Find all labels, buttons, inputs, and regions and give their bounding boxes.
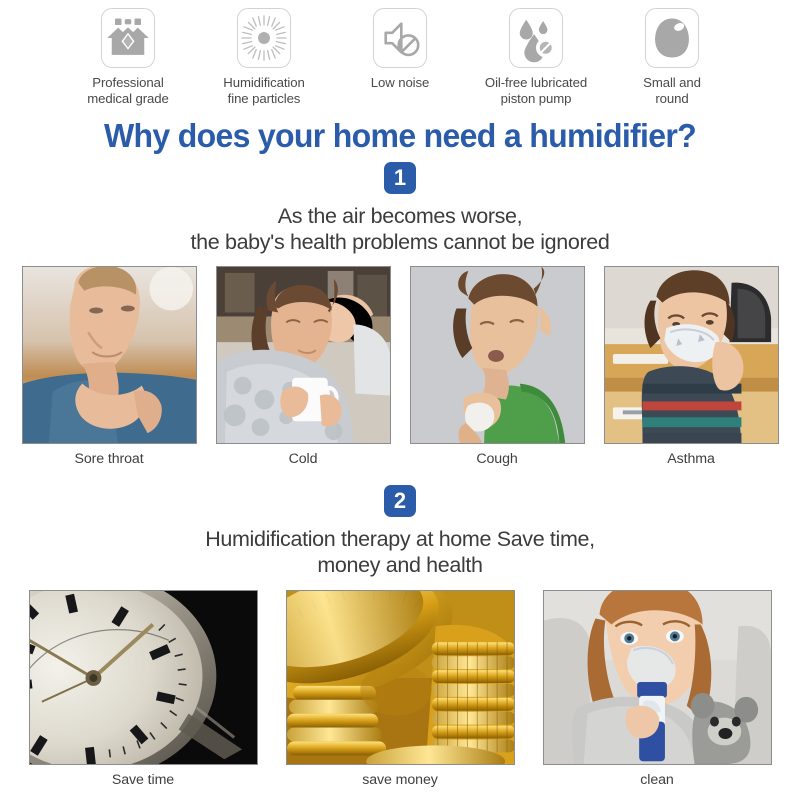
feature-label-line2: round [655, 91, 688, 106]
feature-label-line1: Professional [92, 75, 163, 90]
photo-asthma [604, 266, 779, 444]
infographic-page: Professional medical grade [0, 0, 800, 800]
photo-cough [410, 266, 585, 444]
feature-label: Small and round [643, 75, 701, 106]
feature-label-line2: fine particles [228, 91, 301, 106]
photo-caption: clean [640, 772, 673, 788]
feature-label-line1: Humidification [223, 75, 304, 90]
feature-label: Low noise [371, 75, 429, 91]
section-2-title-line1: Humidification therapy at home Save time… [0, 526, 800, 552]
section-1-title: As the air becomes worse, the baby's hea… [0, 203, 800, 255]
photo-cell-cold: Cold [216, 266, 391, 467]
feature-label: Professional medical grade [87, 75, 169, 106]
feature-label-line2: medical grade [87, 91, 169, 106]
section-2-photo-row: Save time [0, 590, 800, 788]
feature-label-line2: piston pump [501, 91, 572, 106]
feature-label: Oil-free lubricated piston pump [485, 75, 587, 106]
photo-cell-clean: clean [543, 590, 772, 788]
step-badge-1: 1 [384, 162, 416, 194]
photo-cell-cough: Cough [410, 266, 585, 467]
speaker-mute-icon [373, 8, 427, 68]
feature-label-line1: Low noise [371, 75, 429, 90]
page-title: Why does your home need a humidifier? [12, 118, 788, 154]
section-2-title-line2: money and health [0, 552, 800, 578]
rounded-pebble-icon [645, 8, 699, 68]
photo-cell-save-time: Save time [29, 590, 258, 788]
feature-item-humidification-fine-particles: Humidification fine particles [196, 8, 332, 106]
feature-item-low-noise: Low noise [332, 8, 468, 91]
section-1-title-line1: As the air becomes worse, [0, 203, 800, 229]
particle-burst-icon [237, 8, 291, 68]
photo-sore-throat [22, 266, 197, 444]
step-2-badge-wrap: 2 [0, 485, 800, 517]
section-1-photo-row: Sore throat [0, 266, 800, 467]
feature-label-line1: Oil-free lubricated [485, 75, 587, 90]
photo-cell-save-money: save money [286, 590, 515, 788]
step-badge-2: 2 [384, 485, 416, 517]
home-medical-icon [101, 8, 155, 68]
photo-caption: Cough [476, 451, 517, 467]
photo-cell-sore-throat: Sore throat [22, 266, 197, 467]
oil-free-droplet-icon [509, 8, 563, 68]
feature-item-professional-medical-grade: Professional medical grade [60, 8, 196, 106]
photo-clean [543, 590, 772, 765]
section-1-title-line2: the baby's health problems cannot be ign… [0, 229, 800, 255]
photo-caption: save money [362, 772, 438, 788]
photo-caption: Cold [289, 451, 318, 467]
photo-caption: Asthma [667, 451, 715, 467]
photo-cold [216, 266, 391, 444]
photo-caption: Sore throat [74, 451, 143, 467]
photo-save-money [286, 590, 515, 765]
photo-caption: Save time [112, 772, 174, 788]
feature-strip: Professional medical grade [0, 0, 800, 106]
step-1-badge-wrap: 1 [0, 162, 800, 194]
photo-save-time [29, 590, 258, 765]
feature-label-line1: Small and [643, 75, 701, 90]
feature-item-oil-free-lubricated-piston-pump: Oil-free lubricated piston pump [468, 8, 604, 106]
feature-item-small-and-round: Small and round [604, 8, 740, 106]
photo-cell-asthma: Asthma [604, 266, 779, 467]
section-2-title: Humidification therapy at home Save time… [0, 526, 800, 578]
feature-label: Humidification fine particles [223, 75, 304, 106]
